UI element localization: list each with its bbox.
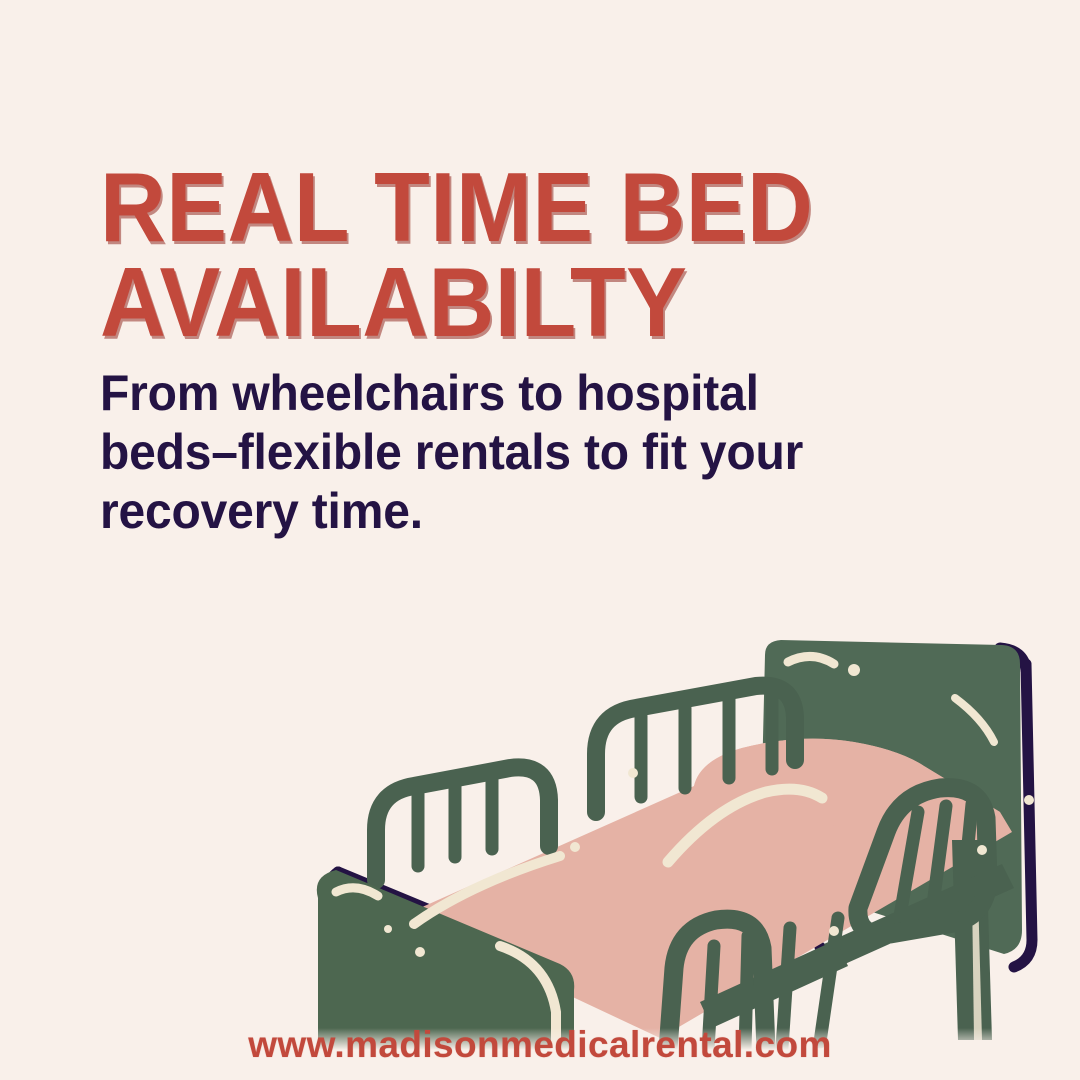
poster-canvas: REAL TIME BED AVAILABILTY From wheelchai… [0,0,1080,1080]
headboard-panel [760,640,1022,954]
bed-highlight-dots [384,664,1034,957]
bed-leg-right [952,840,992,1040]
subheading-text: From wheelchairs to hospital beds–flexib… [100,364,887,541]
mattress [418,739,1012,1038]
footboard-panel [317,870,574,1050]
middle-side-rail [596,686,795,812]
bed-highlight-strokes [336,656,994,1050]
website-url[interactable]: www.madisonmedicalrental.com [0,1024,1080,1066]
under-frame-bar [700,864,1014,1028]
page-title: REAL TIME BED AVAILABILTY [100,160,863,350]
right-side-rail [858,788,988,935]
text-block: REAL TIME BED AVAILABILTY From wheelchai… [100,160,920,541]
far-side-rail [376,767,549,880]
bed-navy-offset-shadow [328,648,1032,967]
